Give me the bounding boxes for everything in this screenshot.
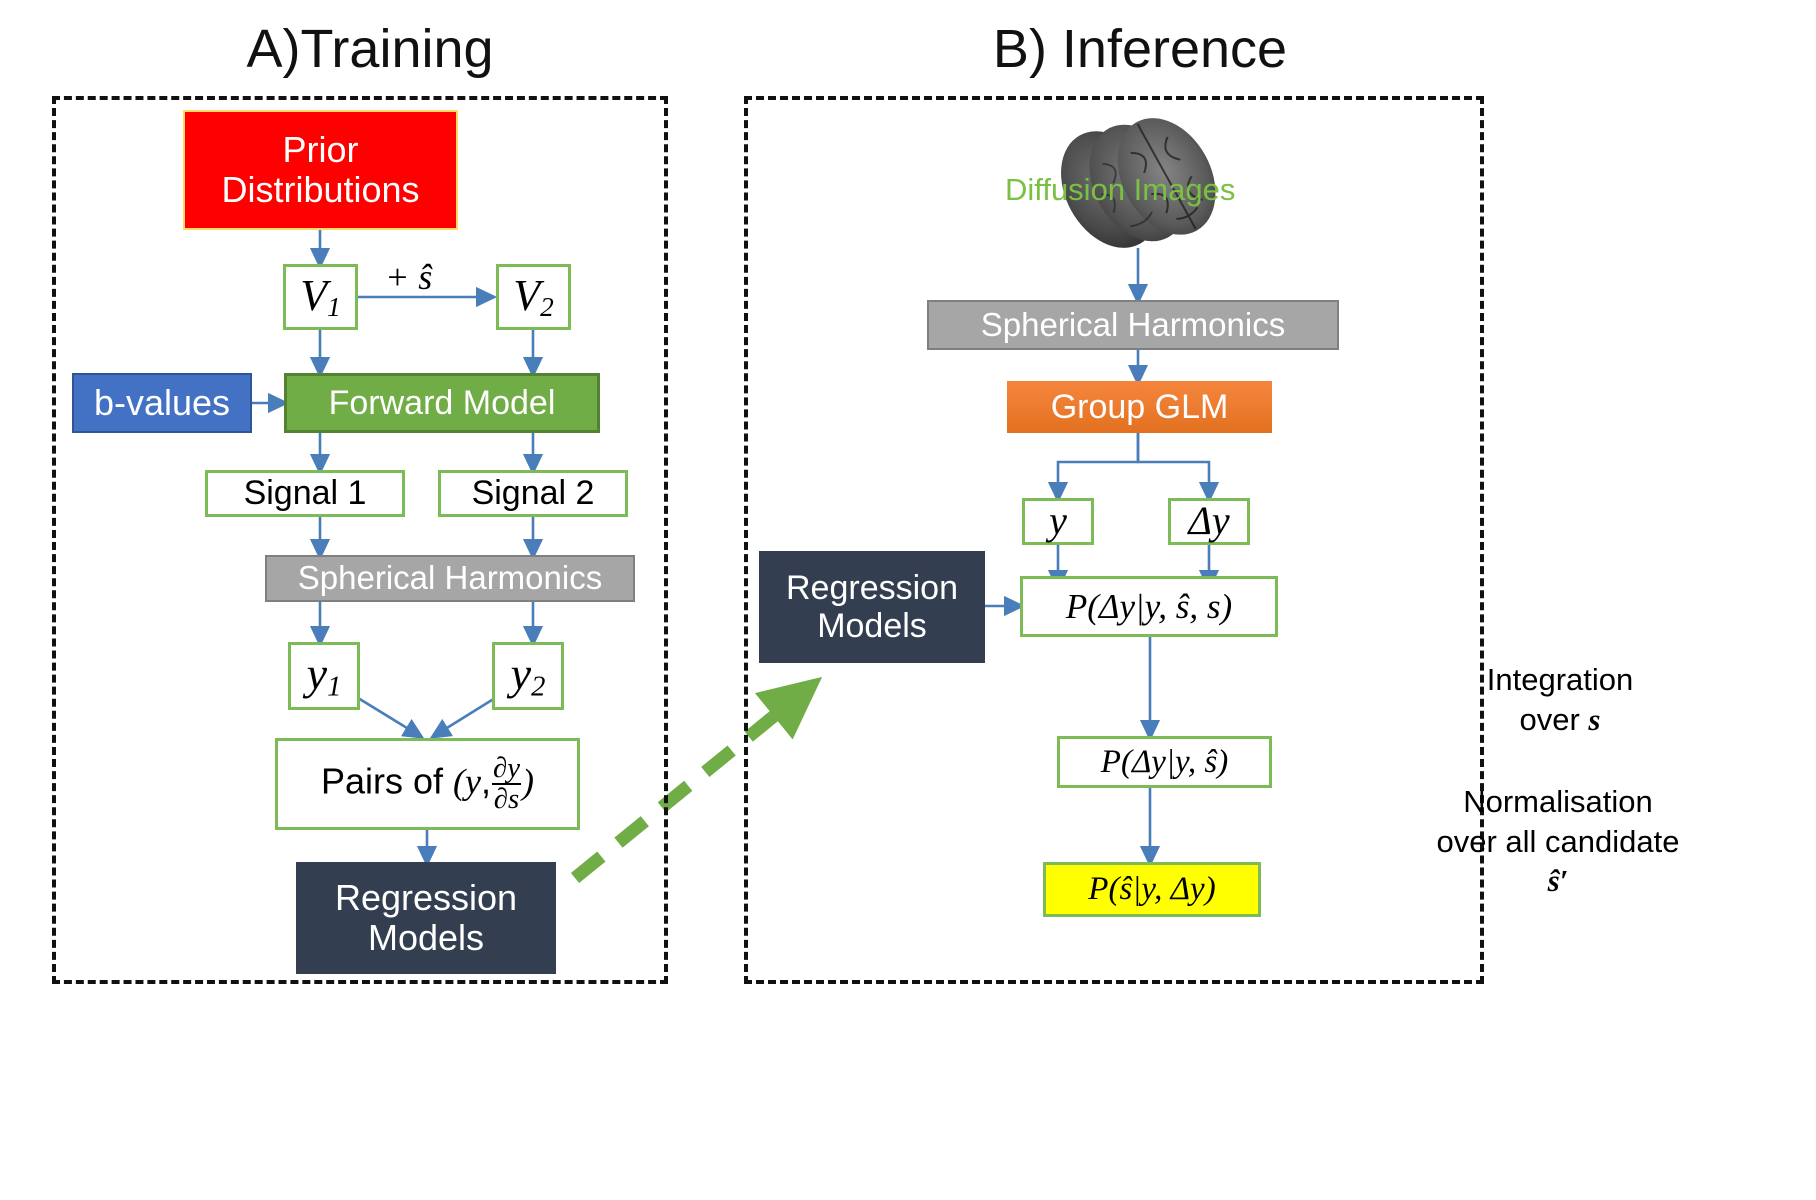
integration-line-1: Integration <box>1425 660 1695 700</box>
spherical-harmonics-box-b[interactable]: Spherical Harmonics <box>927 300 1339 350</box>
v1-label: V1 <box>300 271 341 323</box>
regression-models-box-b[interactable]: Regression Models <box>759 551 985 663</box>
y1-label: y1 <box>307 648 342 703</box>
y1-box[interactable]: y1 <box>288 642 360 710</box>
regression-models-a-line-2: Models <box>368 918 484 958</box>
prior-line-1: Prior <box>282 130 358 170</box>
signal-1-box[interactable]: Signal 1 <box>205 470 405 517</box>
forward-model-box[interactable]: Forward Model <box>284 373 600 433</box>
normalisation-line-3: ŝ′ <box>1393 861 1723 901</box>
v2-box[interactable]: V2 <box>496 264 571 330</box>
prior-line-2: Distributions <box>221 170 419 210</box>
integration-line-2: over s <box>1425 700 1695 740</box>
y-box[interactable]: y <box>1022 498 1094 545</box>
panel-b-title: B) Inference <box>880 22 1400 76</box>
prior-distributions-box[interactable]: Prior Distributions <box>183 110 458 230</box>
integration-annotation: Integration over s <box>1425 660 1695 739</box>
pairs-of-box[interactable]: Pairs of (y,∂y∂s) <box>275 738 580 830</box>
panel-a-title: A)Training <box>110 22 630 76</box>
regression-models-a-line-1: Regression <box>335 878 517 918</box>
spherical-harmonics-box-a[interactable]: Spherical Harmonics <box>265 555 635 602</box>
diagram-canvas: A)Training Prior Distributions V1 + ŝ V2… <box>0 0 1816 1200</box>
regression-models-box-a[interactable]: Regression Models <box>296 862 556 974</box>
p-marginal-box[interactable]: P(Δy|y, ŝ) <box>1057 736 1272 788</box>
signal-2-box[interactable]: Signal 2 <box>438 470 628 517</box>
p-posterior-box[interactable]: P(ŝ|y, Δy) <box>1043 862 1261 917</box>
y2-box[interactable]: y2 <box>492 642 564 710</box>
p-conditional-full-box[interactable]: P(Δy|y, ŝ, s) <box>1020 576 1278 637</box>
normalisation-line-2: over all candidate <box>1393 822 1723 862</box>
delta-y-box[interactable]: Δy <box>1168 498 1250 545</box>
plus-s-label: + ŝ <box>385 256 432 298</box>
regression-models-b-line-2: Models <box>817 607 927 645</box>
normalisation-line-1: Normalisation <box>1393 782 1723 822</box>
y2-label: y2 <box>511 648 546 703</box>
normalisation-annotation: Normalisation over all candidate ŝ′ <box>1393 782 1723 901</box>
pairs-of-label: Pairs of (y,∂y∂s) <box>321 754 534 814</box>
group-glm-box[interactable]: Group GLM <box>1007 381 1272 433</box>
v2-label: V2 <box>513 271 554 323</box>
regression-models-b-line-1: Regression <box>786 569 958 607</box>
diffusion-images-label: Diffusion Images <box>1005 172 1235 208</box>
v1-box[interactable]: V1 <box>283 264 358 330</box>
b-values-box[interactable]: b-values <box>72 373 252 433</box>
